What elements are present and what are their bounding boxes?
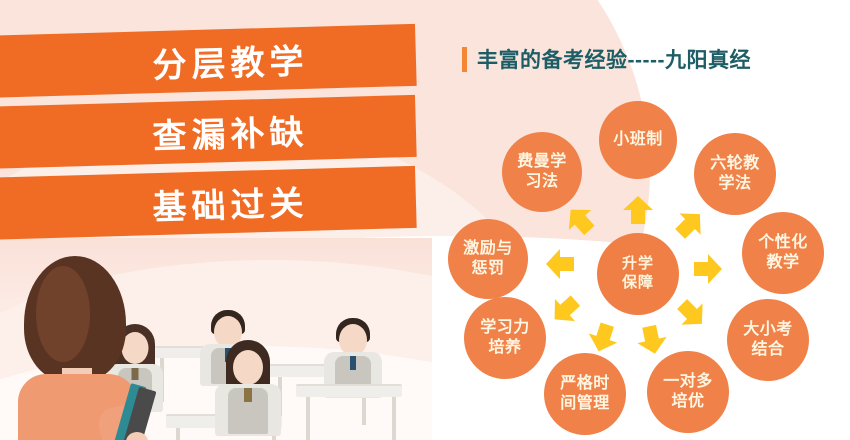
diagram-node-feynman-method[interactable]: 费曼学习法	[502, 132, 582, 212]
diagram-hub-line-1: 升学	[622, 255, 654, 274]
node-label-line-2: 教学	[766, 253, 799, 273]
classroom-photo	[0, 238, 432, 440]
student-3	[212, 340, 284, 440]
poster-canvas: 分层教学 查漏补缺 基础过关 丰富的备考经验-----九阳真经 升学保障小班制六…	[0, 0, 850, 440]
node-label-line-1: 小班制	[613, 130, 663, 150]
node-label-line-1: 激励与	[463, 239, 513, 259]
arrow-down	[632, 322, 671, 358]
diagram-node-personalized[interactable]: 个性化教学	[742, 212, 824, 294]
diagram-hub[interactable]: 升学保障	[597, 233, 679, 315]
section-headline-text: 丰富的备考经验-----九阳真经	[477, 44, 751, 74]
node-label-line-1: 个性化	[758, 233, 808, 253]
diagram-node-learning-ability[interactable]: 学习力培养	[464, 297, 546, 379]
arrow-left	[545, 247, 575, 281]
arrow-up-right	[667, 201, 712, 246]
arrow-up	[621, 195, 655, 225]
banner-line-2: 查漏补缺	[0, 95, 401, 169]
arrow-down-right	[669, 291, 714, 336]
node-label-line-1: 学习力	[480, 318, 530, 338]
desk-front-right	[296, 384, 402, 397]
banner-band-3: 基础过关	[0, 166, 417, 240]
teacher-hand	[126, 432, 148, 440]
node-label-line-2: 习法	[525, 172, 558, 192]
banner-band-1: 分层教学	[0, 24, 417, 98]
desk-leg	[392, 397, 396, 440]
node-label-line-2: 学法	[718, 174, 751, 194]
teacher-hair-highlight	[36, 266, 90, 362]
necktie	[350, 356, 356, 370]
arrow-right	[693, 252, 723, 286]
student-4	[322, 318, 384, 394]
node-label-line-2: 结合	[751, 340, 784, 360]
diagram-node-small-class[interactable]: 小班制	[599, 101, 677, 179]
arrow-down-left	[582, 318, 624, 357]
banner-line-3: 基础过关	[0, 166, 401, 240]
diagram-node-six-round-teaching[interactable]: 六轮教学法	[694, 133, 776, 215]
node-label-line-1: 费曼学	[517, 152, 567, 172]
accent-bar	[462, 47, 467, 72]
node-label-line-2: 培养	[488, 338, 521, 358]
node-label-line-1: 严格时	[560, 374, 610, 394]
radial-diagram: 升学保障小班制六轮教学法个性化教学大小考结合一对多培优严格时间管理学习力培养激励…	[420, 92, 850, 440]
necktie	[244, 388, 252, 402]
headline-banner: 分层教学 查漏补缺 基础过关	[0, 0, 420, 250]
diagram-node-one-to-many[interactable]: 一对多培优	[647, 351, 729, 433]
node-label-line-1: 大小考	[743, 320, 793, 340]
banner-line-1: 分层教学	[0, 24, 401, 98]
diagram-node-time-management[interactable]: 严格时间管理	[544, 353, 626, 435]
node-label-line-2: 惩罚	[471, 259, 504, 279]
head	[233, 350, 263, 385]
node-label-line-2: 间管理	[560, 394, 610, 414]
node-label-line-1: 六轮教	[710, 154, 760, 174]
section-headline: 丰富的备考经验-----九阳真经	[462, 44, 751, 74]
node-label-line-2: 培优	[671, 392, 704, 412]
teacher-figure	[18, 256, 198, 440]
node-label-line-1: 一对多	[663, 372, 713, 392]
diagram-node-exam-combination[interactable]: 大小考结合	[727, 299, 809, 381]
diagram-node-reward-punish[interactable]: 激励与惩罚	[448, 219, 528, 299]
arrow-left-down	[542, 287, 587, 332]
diagram-hub-line-2: 保障	[622, 274, 654, 293]
desk-leg	[306, 397, 310, 440]
banner-band-2: 查漏补缺	[0, 95, 417, 169]
